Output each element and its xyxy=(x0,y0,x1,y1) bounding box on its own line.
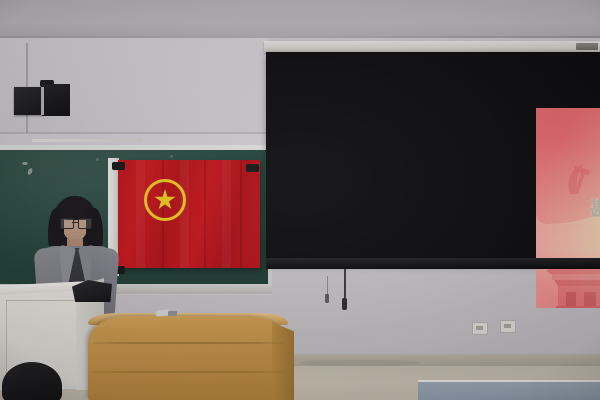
slide-canvas: 勘查15-2班组织生活会 xyxy=(536,108,600,308)
screen-pull-cord[interactable] xyxy=(344,269,346,301)
flag-clip xyxy=(246,164,259,172)
projection-screen[interactable]: 勘查15-2班组织生活会 xyxy=(266,52,600,264)
chalk-mark xyxy=(96,158,99,161)
podium-item xyxy=(168,311,177,316)
star-icon xyxy=(154,189,176,211)
classroom-scene: 勘查15-2班组织生活会 xyxy=(0,0,600,400)
slide-title: 勘查15-2班组织生活会 xyxy=(536,192,600,221)
tiananmen-gate-icon xyxy=(542,248,600,308)
speaker-seam xyxy=(41,87,44,115)
floor-smudge xyxy=(300,360,420,366)
podium-seam xyxy=(92,371,284,373)
flag-clip xyxy=(112,162,125,170)
wall-outlet-right[interactable] xyxy=(500,320,516,333)
screen-pull-cord-handle[interactable] xyxy=(342,298,347,310)
wall-outlet-left[interactable] xyxy=(472,322,488,335)
podium-seam xyxy=(92,342,284,344)
podium-side xyxy=(272,322,294,400)
screen-housing-cap xyxy=(576,43,598,50)
screen-bottom-bar xyxy=(266,258,600,269)
chalk-tray xyxy=(32,139,142,142)
wall-seam xyxy=(0,132,266,134)
wooden-podium xyxy=(88,316,288,400)
wall-speaker-icon xyxy=(14,87,44,115)
blue-grey-desk xyxy=(418,382,600,400)
wall-speaker-icon xyxy=(42,84,70,116)
cyl-emblem-icon xyxy=(144,179,186,221)
hanging-wire-tip xyxy=(325,294,329,303)
chalk-mark xyxy=(22,162,28,165)
communist-youth-league-flag xyxy=(118,160,260,268)
ceiling xyxy=(0,0,600,40)
chalk-mark xyxy=(170,155,173,158)
glasses-icon xyxy=(60,218,90,227)
